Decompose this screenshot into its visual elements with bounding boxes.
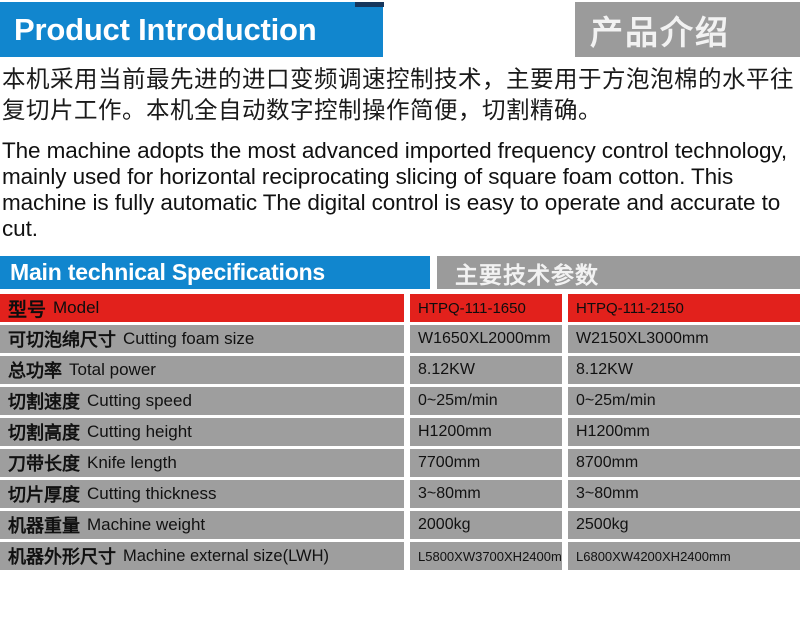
table-row: 可切泡绵尺寸 Cutting foam size W1650XL2000mm W…	[0, 325, 800, 353]
table-row-label-cn: 切片厚度	[8, 481, 80, 507]
table-header-model-1: HTPQ-111-1650	[410, 294, 562, 322]
table-row-value-1: 8.12KW	[410, 356, 562, 384]
table-row-label-cn: 机器外形尺寸	[8, 543, 116, 569]
table-row-value-1: L5800XW3700XH2400mm	[410, 542, 562, 570]
table-row: 切割高度 Cutting height H1200mm H1200mm	[0, 418, 800, 446]
table-row-label-cell: 切割高度 Cutting height	[0, 418, 404, 446]
table-row-label-en: Cutting foam size	[123, 329, 254, 349]
table-row: 总功率 Total power 8.12KW 8.12KW	[0, 356, 800, 384]
table-row-label-cn: 可切泡绵尺寸	[8, 326, 116, 352]
table-row-label-cn: 机器重量	[8, 512, 80, 538]
table-header-model-2: HTPQ-111-2150	[568, 294, 800, 322]
table-row-value-1: W1650XL2000mm	[410, 325, 562, 353]
table-row-label-cell: 机器外形尺寸 Machine external size(LWH)	[0, 542, 404, 570]
table-row-value-2: 2500kg	[568, 511, 800, 539]
table-row-value-1: 0~25m/min	[410, 387, 562, 415]
specifications-banner: Main technical Specifications 主要技术参数	[0, 256, 800, 289]
table-row-label-en: Cutting speed	[87, 391, 192, 411]
table-row-label-cell: 机器重量 Machine weight	[0, 511, 404, 539]
table-row-value-2: 0~25m/min	[568, 387, 800, 415]
table-row-label-en: Knife length	[87, 453, 177, 473]
intro-paragraph-chinese: 本机采用当前最先进的进口变频调速控制技术，主要用于方泡泡棉的水平往复切片工作。本…	[0, 57, 800, 126]
table-header-label-en: Model	[53, 298, 99, 318]
specifications-table: 型号 Model HTPQ-111-1650 HTPQ-111-2150 可切泡…	[0, 294, 800, 570]
table-row-value-2: L6800XW4200XH2400mm	[568, 542, 800, 570]
table-row-label-en: Machine weight	[87, 515, 205, 535]
table-row-label-cell: 总功率 Total power	[0, 356, 404, 384]
specifications-title-en: Main technical Specifications	[0, 256, 430, 289]
table-row-value-1: 2000kg	[410, 511, 562, 539]
table-row-label-cell: 可切泡绵尺寸 Cutting foam size	[0, 325, 404, 353]
table-row-label-cell: 切片厚度 Cutting thickness	[0, 480, 404, 508]
table-row: 刀带长度 Knife length 7700mm 8700mm	[0, 449, 800, 477]
product-introduction-title-en: Product Introduction	[0, 2, 383, 57]
product-introduction-title-cn: 产品介绍	[575, 2, 800, 57]
table-row-label-cell: 切割速度 Cutting speed	[0, 387, 404, 415]
table-row: 机器外形尺寸 Machine external size(LWH) L5800X…	[0, 542, 800, 570]
table-row-label-cell: 刀带长度 Knife length	[0, 449, 404, 477]
table-row-value-1: H1200mm	[410, 418, 562, 446]
table-row-label-en: Total power	[69, 360, 156, 380]
table-row-value-2: H1200mm	[568, 418, 800, 446]
intro-paragraph-english: The machine adopts the most advanced imp…	[0, 126, 800, 242]
banner-spacer	[430, 256, 437, 289]
table-row-label-cn: 刀带长度	[8, 450, 80, 476]
table-row: 切割速度 Cutting speed 0~25m/min 0~25m/min	[0, 387, 800, 415]
table-row-value-1: 7700mm	[410, 449, 562, 477]
table-row-label-en: Cutting thickness	[87, 484, 216, 504]
table-row-value-2: 8700mm	[568, 449, 800, 477]
table-row-label-cn: 切割高度	[8, 419, 80, 445]
table-header-label-cell: 型号 Model	[0, 294, 404, 322]
table-row-label-en: Cutting height	[87, 422, 192, 442]
table-header-row: 型号 Model HTPQ-111-1650 HTPQ-111-2150	[0, 294, 800, 322]
table-row-label-cn: 总功率	[8, 357, 62, 383]
table-row-value-2: 3~80mm	[568, 480, 800, 508]
table-row: 切片厚度 Cutting thickness 3~80mm 3~80mm	[0, 480, 800, 508]
specifications-title-cn: 主要技术参数	[437, 256, 800, 289]
table-row-value-2: 8.12KW	[568, 356, 800, 384]
table-row: 机器重量 Machine weight 2000kg 2500kg	[0, 511, 800, 539]
table-row-value-2: W2150XL3000mm	[568, 325, 800, 353]
top-edge-marker	[355, 2, 384, 7]
table-header-label-cn: 型号	[8, 295, 46, 322]
table-row-label-en: Machine external size(LWH)	[123, 547, 329, 566]
product-introduction-banner: Product Introduction 产品介绍	[0, 2, 800, 57]
table-row-value-1: 3~80mm	[410, 480, 562, 508]
banner-spacer	[383, 2, 575, 57]
table-row-label-cn: 切割速度	[8, 388, 80, 414]
